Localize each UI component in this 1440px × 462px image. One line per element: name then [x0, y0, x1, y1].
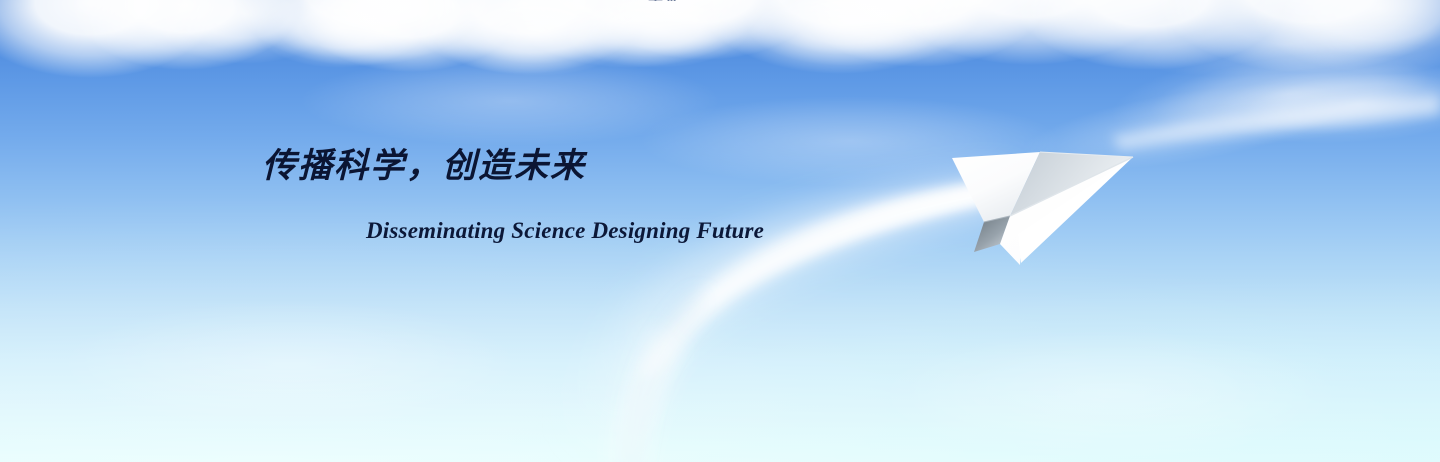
clipped-top-text: 未来: [648, 0, 680, 1]
slogan-english: Disseminating Science Designing Future: [366, 216, 822, 246]
sky-banner: 未来 传播科学，创造未来 Disseminating Science Desig…: [0, 0, 1440, 462]
slogan-block: 传播科学，创造未来 Disseminating Science Designin…: [262, 146, 822, 246]
slogan-chinese: 传播科学，创造未来: [262, 146, 822, 188]
